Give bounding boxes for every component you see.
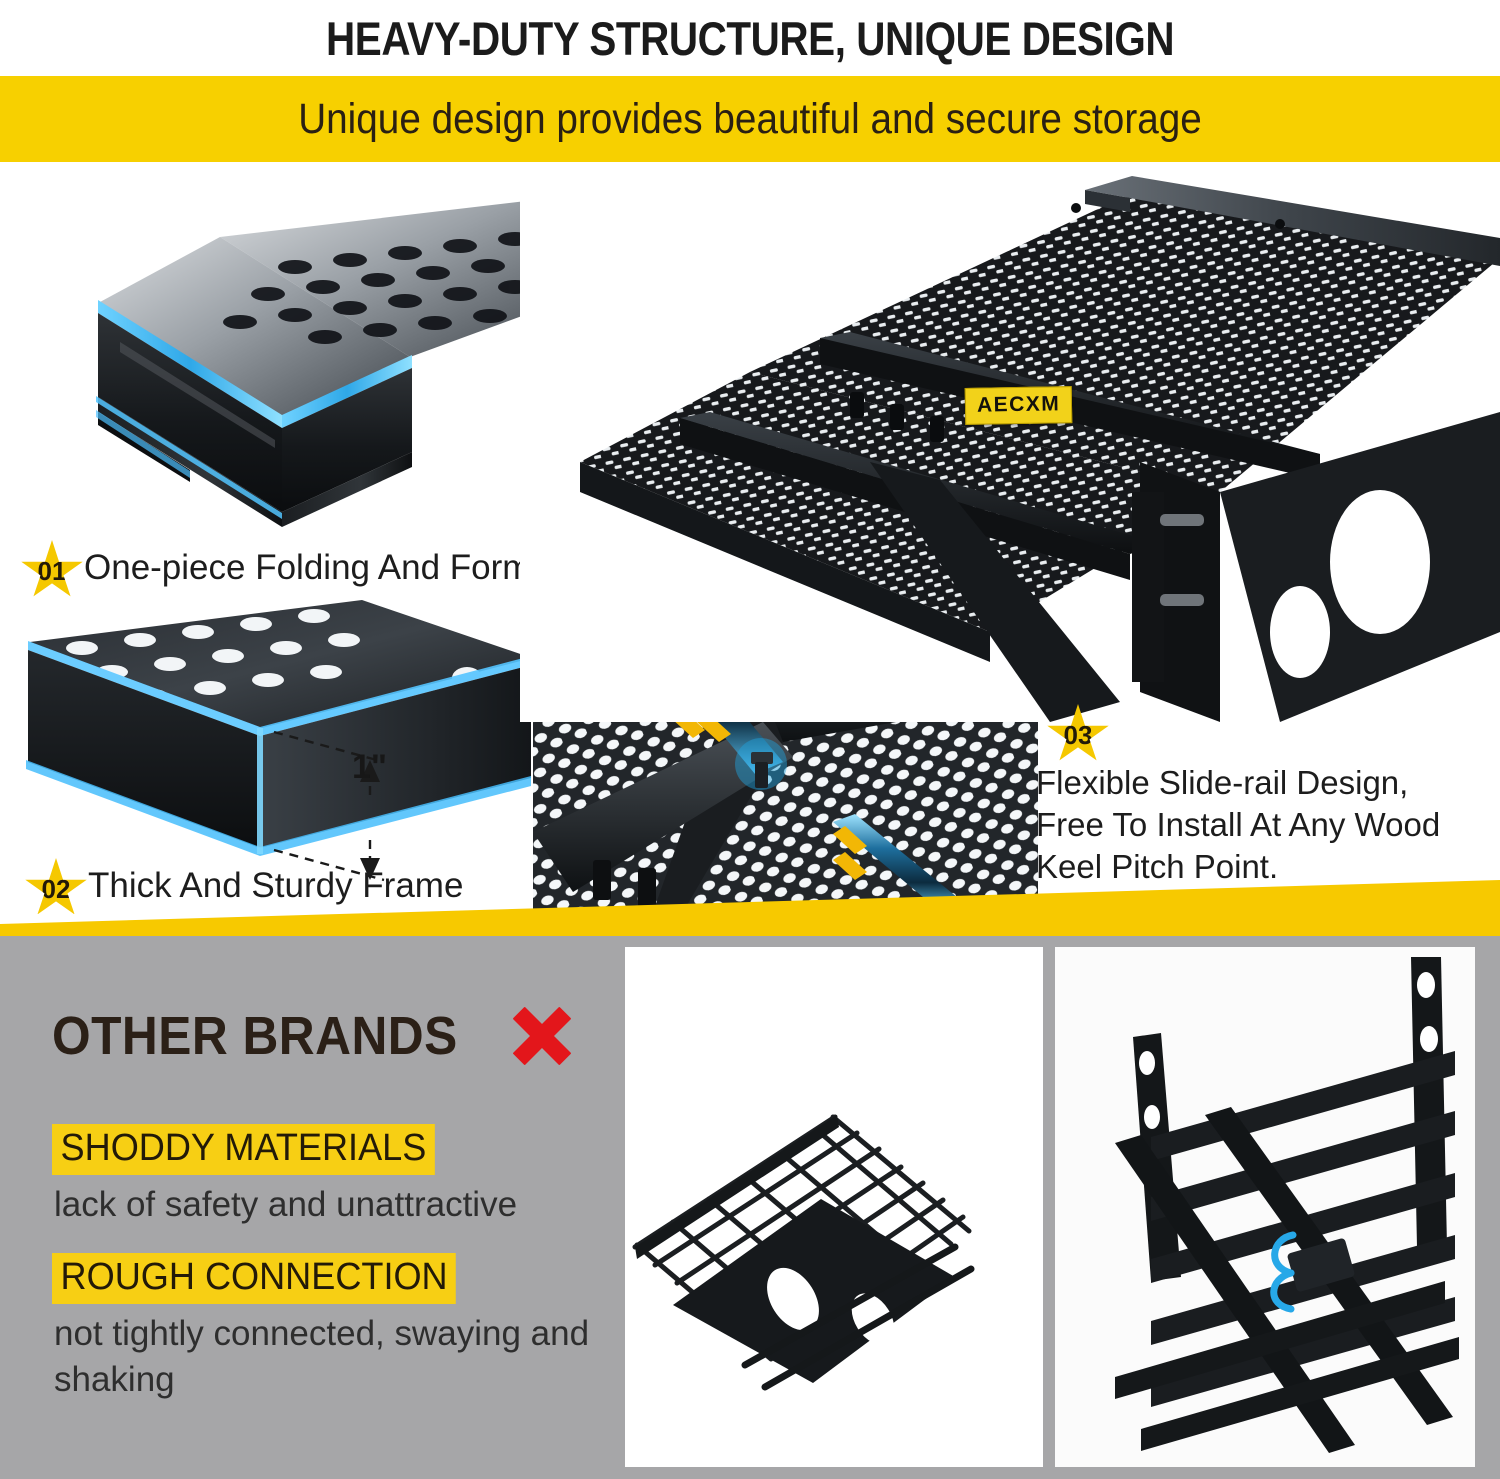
features-section: 01 One-piece Folding And Forming bbox=[0, 162, 1500, 914]
wire-mesh-illustration bbox=[625, 947, 1043, 1467]
drawback-heading-2: ROUGH CONNECTION bbox=[52, 1253, 456, 1304]
feature-number-02: 02 bbox=[42, 876, 71, 902]
drawback-detail-2: not tightly connected, swaying and shaki… bbox=[54, 1311, 614, 1402]
brand-badge-label: AECXM bbox=[977, 392, 1061, 416]
folded-panel-illustration bbox=[40, 182, 570, 532]
page-subtitle: Unique design provides beautiful and sec… bbox=[298, 95, 1202, 144]
other-brands-title: OTHER BRANDS bbox=[52, 1005, 573, 1067]
brand-badge: AECXM bbox=[965, 386, 1073, 425]
dimension-label: 1" bbox=[352, 748, 387, 787]
other-brands-label: OTHER BRANDS bbox=[52, 1005, 458, 1067]
page-title: HEAVY-DUTY STRUCTURE, UNIQUE DESIGN bbox=[326, 11, 1174, 66]
photo-wire-mesh-rack bbox=[625, 947, 1043, 1467]
photo-main-rack: AECXM bbox=[520, 162, 1500, 722]
photo-thick-frame: 1" bbox=[12, 600, 532, 890]
x-mark-icon bbox=[511, 1005, 573, 1067]
feature-badge-01: 01 bbox=[20, 540, 84, 602]
header-subtitle-band: Unique design provides beautiful and sec… bbox=[0, 76, 1500, 162]
main-rack-illustration bbox=[520, 162, 1500, 722]
feature-label-02: Thick And Sturdy Frame bbox=[88, 866, 463, 906]
header-title-band: HEAVY-DUTY STRUCTURE, UNIQUE DESIGN bbox=[0, 0, 1500, 76]
drawback-detail-1: lack of safety and unattractive bbox=[54, 1182, 614, 1228]
photo-bar-frame bbox=[1055, 947, 1475, 1467]
feature-label-03: Flexible Slide-rail Design, Free To Inst… bbox=[1036, 762, 1466, 889]
infographic-page: HEAVY-DUTY STRUCTURE, UNIQUE DESIGN Uniq… bbox=[0, 0, 1500, 1479]
frame-corner-illustration bbox=[12, 600, 532, 890]
bar-frame-illustration bbox=[1055, 947, 1475, 1467]
feature-number-03: 03 bbox=[1064, 722, 1093, 748]
feature-number-01: 01 bbox=[38, 558, 67, 584]
photo-one-piece-folding bbox=[40, 182, 570, 532]
feature-label-01: One-piece Folding And Forming bbox=[84, 548, 578, 588]
drawback-heading-1: SHODDY MATERIALS bbox=[52, 1124, 435, 1175]
